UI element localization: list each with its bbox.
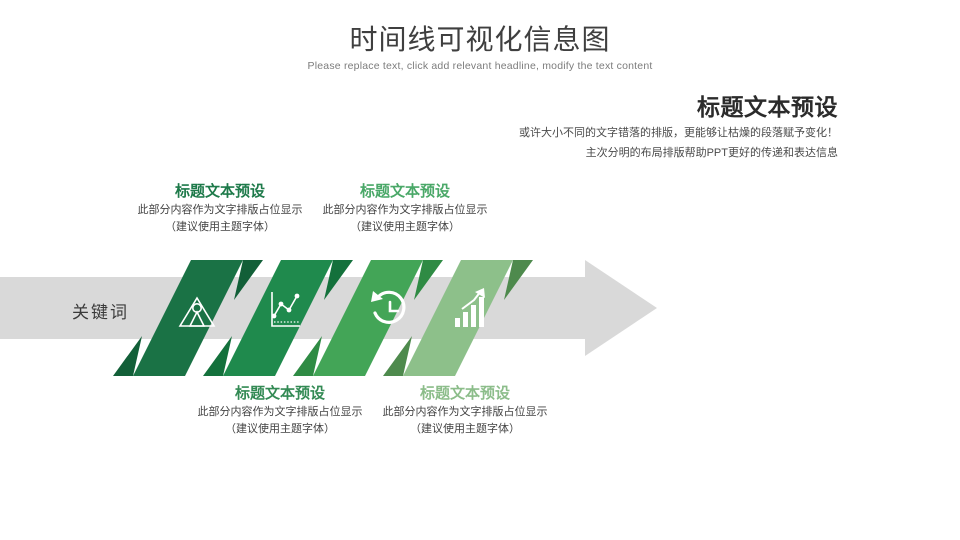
step-4-line-1: 此部分内容作为文字排版占位显示 xyxy=(340,404,590,421)
step-callout-2: 标题文本预设 此部分内容作为文字排版占位显示 （建议使用主题字体） xyxy=(280,182,530,236)
step-2-line-2: （建议使用主题字体） xyxy=(280,219,530,236)
slide-header: 时间线可视化信息图 Please replace text, click add… xyxy=(0,22,960,72)
step-4-title: 标题文本预设 xyxy=(340,384,590,404)
page-subtitle: Please replace text, click add relevant … xyxy=(0,60,960,72)
intro-block: 标题文本预设 或许大小不同的文字错落的排版，更能够让枯燥的段落赋予变化！ 主次分… xyxy=(318,92,838,162)
step-2-title: 标题文本预设 xyxy=(280,182,530,202)
page-title: 时间线可视化信息图 xyxy=(0,22,960,58)
step-2-line-1: 此部分内容作为文字排版占位显示 xyxy=(280,202,530,219)
keyword-label: 关键词 xyxy=(72,298,182,323)
step-callout-4: 标题文本预设 此部分内容作为文字排版占位显示 （建议使用主题字体） xyxy=(340,384,590,438)
slide-canvas: 时间线可视化信息图 Please replace text, click add… xyxy=(0,0,960,540)
intro-title: 标题文本预设 xyxy=(318,92,838,122)
intro-line-1: 或许大小不同的文字错落的排版，更能够让枯燥的段落赋予变化！ xyxy=(318,125,838,142)
step-4-line-2: （建议使用主题字体） xyxy=(340,421,590,438)
intro-line-2: 主次分明的布局排版帮助PPT更好的传递和表达信息 xyxy=(318,145,838,162)
